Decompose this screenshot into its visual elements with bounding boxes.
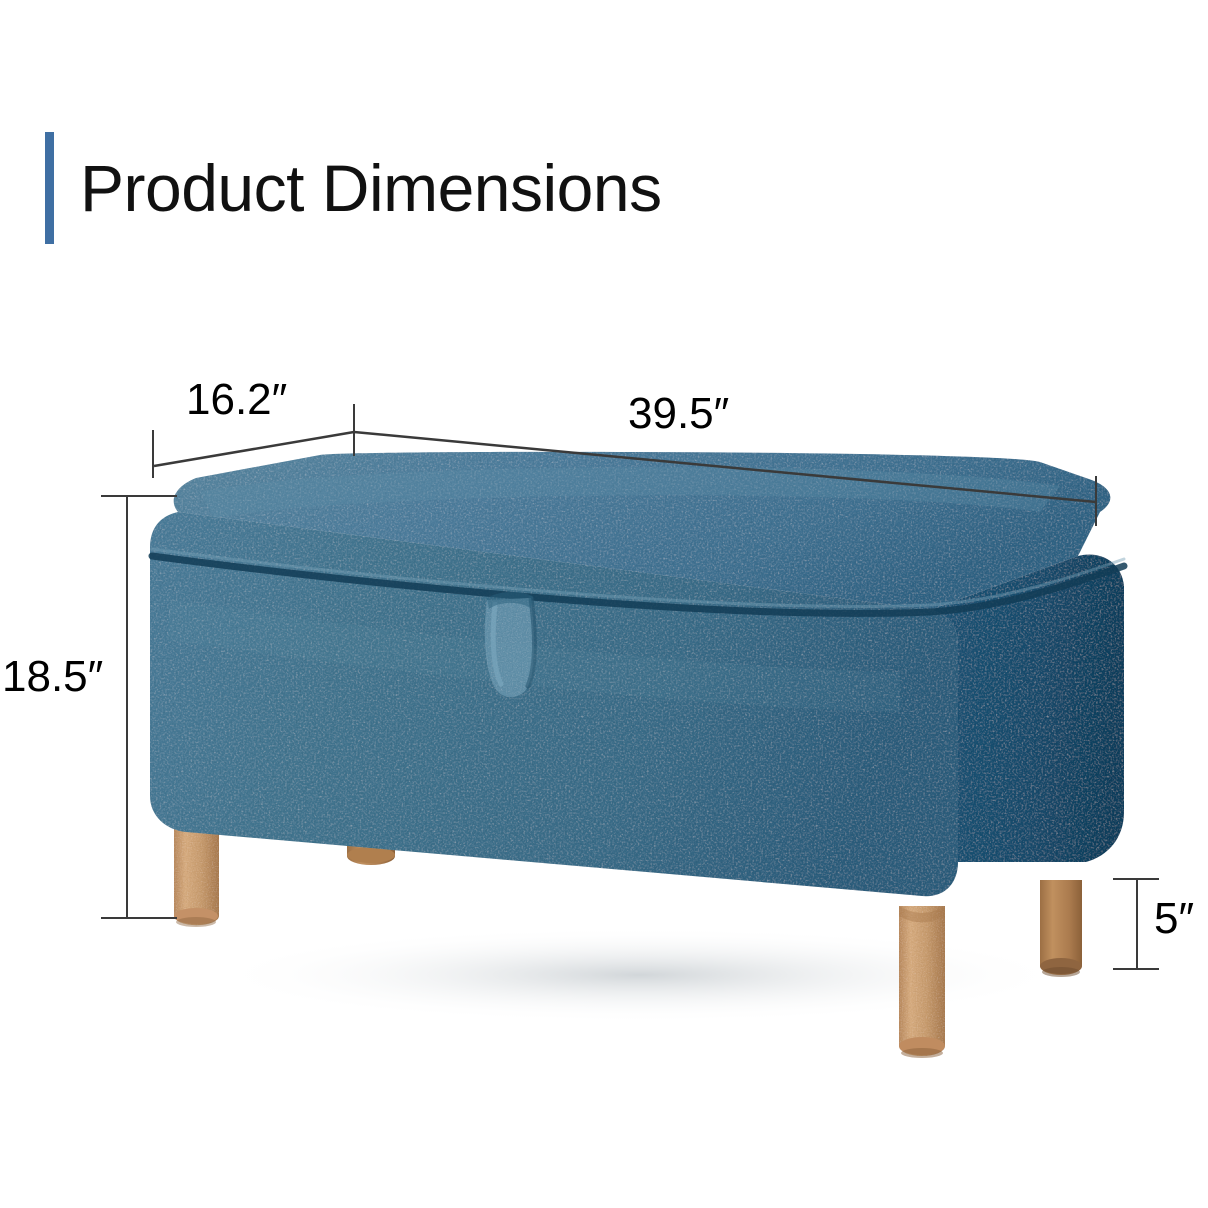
leg-front-right [899,906,945,1058]
dimension-label-depth: 16.2″ [186,378,287,422]
leg-front-left [174,820,219,927]
leg-height-tick-bottom [1113,968,1159,970]
leg-back-right [1040,880,1082,977]
height-tick-bottom [101,917,177,919]
depth-tick-left [152,430,154,478]
dimension-label-height: 18.5″ [2,655,103,699]
leg-height-rule-line [1136,878,1138,970]
leg-height-tick-top [1113,878,1159,880]
depth-width-apex-tick [353,404,355,456]
dimension-label-leg-height: 5″ [1154,897,1194,941]
height-tick-top [101,495,177,497]
product-illustration [0,0,1208,1208]
height-rule-line [126,495,128,919]
dimension-label-width: 39.5″ [628,392,729,436]
width-tick-right [1095,476,1097,526]
